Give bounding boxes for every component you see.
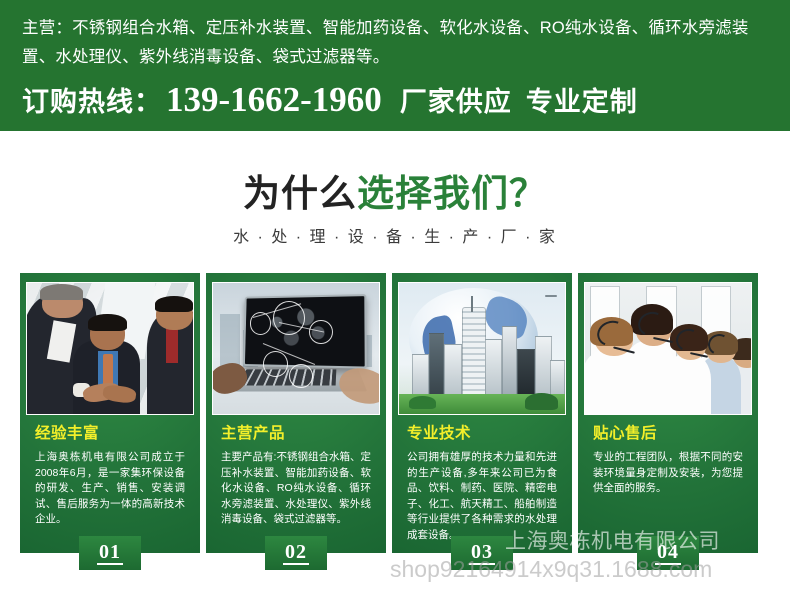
handshake-businessmen-photo	[26, 282, 194, 415]
feature-card-3: 专业技术 公司拥有雄厚的技术力量和先进的生产设备,多年来公司已为食品、饮料、制药…	[392, 273, 572, 553]
hotline-line: 订购热线：139-1662-1960厂家供应专业定制	[22, 81, 768, 121]
feature-card-4-heading: 贴心售后	[593, 424, 752, 444]
city-skyline-globe-photo	[398, 282, 566, 415]
feature-card-1: 经验丰富 上海奥栋机电有限公司成立于2008年6月，是一家集环保设备的研发、生产…	[20, 273, 200, 553]
feature-card-2-body: 主要产品有:不锈钢组合水箱、定压补水装置、智能加药设备、软化水设备、RO纯水设备…	[221, 450, 371, 528]
promo-banner-page: 主营：不锈钢组合水箱、定压补水装置、智能加药设备、软化水设备、RO纯水设备、循环…	[0, 0, 790, 605]
business-scope-text: 主营：不锈钢组合水箱、定压补水装置、智能加药设备、软化水设备、RO纯水设备、循环…	[22, 14, 768, 72]
header-band: 主营：不锈钢组合水箱、定压补水装置、智能加药设备、软化水设备、RO纯水设备、循环…	[0, 0, 790, 131]
title-part-dark: 为什么	[243, 173, 357, 214]
hotline-number: 139-1662-1960	[162, 80, 386, 119]
feature-card-3-body: 公司拥有雄厚的技术力量和先进的生产设备,多年来公司已为食品、饮料、制药、医院、精…	[407, 450, 557, 543]
feature-cards-row: 经验丰富 上海奥栋机电有限公司成立于2008年6月，是一家集环保设备的研发、生产…	[20, 273, 770, 553]
feature-card-3-badge: 03	[451, 536, 513, 570]
feature-card-1-badge: 01	[79, 536, 141, 570]
badge-number: 01	[97, 542, 123, 565]
title-part-green: 选择我们？	[357, 173, 547, 214]
hotline-label: 订购热线：	[22, 87, 162, 117]
feature-card-1-body: 上海奥栋机电有限公司成立于2008年6月，是一家集环保设备的研发、生产、销售、安…	[35, 450, 185, 528]
section-title-block: 为什么选择我们？ 水 · 处 · 理 · 设 · 备 · 生 · 产 · 厂 ·…	[0, 170, 790, 249]
feature-card-3-heading: 专业技术	[407, 424, 566, 444]
page-subtitle: 水 · 处 · 理 · 设 · 备 · 生 · 产 · 厂 · 家	[0, 227, 790, 249]
page-title: 为什么选择我们？	[0, 170, 790, 218]
badge-number: 02	[283, 542, 309, 565]
badge-number: 04	[655, 542, 681, 565]
feature-card-4-body: 专业的工程团队，根据不同的安装环境量身定制及安装，为您提供全面的服务。	[593, 450, 743, 497]
feature-card-2-heading: 主营产品	[221, 424, 380, 444]
feature-card-2-badge: 02	[265, 536, 327, 570]
laptop-technology-photo	[212, 282, 380, 415]
feature-card-2: 主营产品 主要产品有:不锈钢组合水箱、定压补水装置、智能加药设备、软化水设备、R…	[206, 273, 386, 553]
badge-number: 03	[469, 542, 495, 565]
feature-card-4-badge: 04	[637, 536, 699, 570]
tagline-factory-supply: 厂家供应	[386, 87, 512, 117]
call-center-team-photo	[584, 282, 752, 415]
feature-card-4: 贴心售后 专业的工程团队，根据不同的安装环境量身定制及安装，为您提供全面的服务。…	[578, 273, 758, 553]
feature-card-1-heading: 经验丰富	[35, 424, 194, 444]
tagline-custom-made: 专业定制	[512, 87, 638, 117]
